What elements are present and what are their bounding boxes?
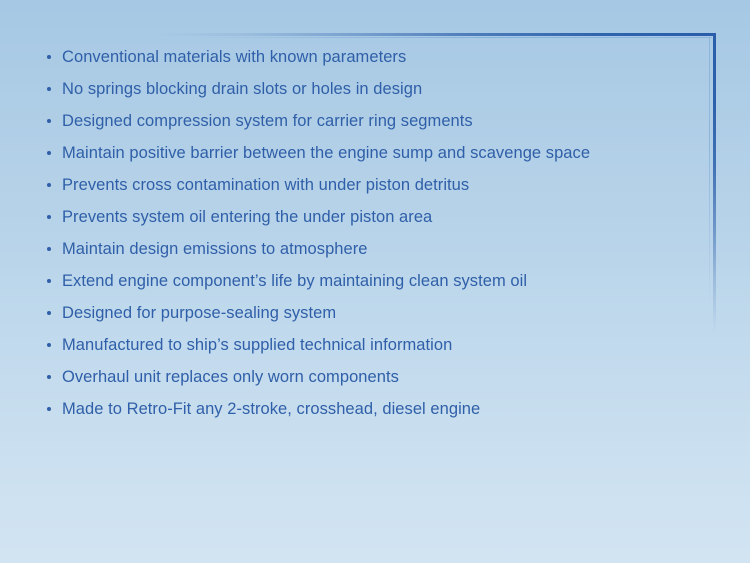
list-item-label: Prevents cross contamination with under … xyxy=(62,176,469,194)
bullet-dot-icon xyxy=(47,55,51,59)
list-item: Conventional materials with known parame… xyxy=(0,41,700,73)
list-item: Prevents cross contamination with under … xyxy=(0,169,700,201)
list-item: Designed for purpose-sealing system xyxy=(0,297,700,329)
frame-right-rule xyxy=(713,33,716,333)
bullet-dot-icon xyxy=(47,119,51,123)
bullet-dot-icon xyxy=(47,343,51,347)
list-item-label: Maintain design emissions to atmosphere xyxy=(62,240,368,258)
list-item-label: Prevents system oil entering the under p… xyxy=(62,208,432,226)
list-item: Designed compression system for carrier … xyxy=(0,105,700,137)
list-item-label: Overhaul unit replaces only worn compone… xyxy=(62,368,399,386)
list-item-label: Designed for purpose-sealing system xyxy=(62,304,336,322)
bullet-dot-icon xyxy=(47,311,51,315)
list-item: Overhaul unit replaces only worn compone… xyxy=(0,361,700,393)
frame-right-rule-highlight xyxy=(709,37,710,307)
bullet-dot-icon xyxy=(47,279,51,283)
slide-canvas: Conventional materials with known parame… xyxy=(0,0,750,563)
bullet-dot-icon xyxy=(47,375,51,379)
list-item-label: Made to Retro-Fit any 2-stroke, crosshea… xyxy=(62,400,480,418)
list-item: Prevents system oil entering the under p… xyxy=(0,201,700,233)
list-item: No springs blocking drain slots or holes… xyxy=(0,73,700,105)
bullet-dot-icon xyxy=(47,151,51,155)
list-item: Made to Retro-Fit any 2-stroke, crosshea… xyxy=(0,393,700,425)
list-item-label: Conventional materials with known parame… xyxy=(62,48,406,66)
frame-top-rule xyxy=(0,33,716,36)
list-item: Extend engine component’s life by mainta… xyxy=(0,265,700,297)
list-item-label: Manufactured to ship’s supplied technica… xyxy=(62,336,452,354)
list-item: Maintain design emissions to atmosphere xyxy=(0,233,700,265)
list-item-label: Designed compression system for carrier … xyxy=(62,112,473,130)
bullet-dot-icon xyxy=(47,183,51,187)
bullet-dot-icon xyxy=(47,407,51,411)
list-item-label: No springs blocking drain slots or holes… xyxy=(62,80,422,98)
bullet-list: Conventional materials with known parame… xyxy=(0,41,700,425)
bullet-dot-icon xyxy=(47,247,51,251)
list-item: Manufactured to ship’s supplied technica… xyxy=(0,329,700,361)
bullet-dot-icon xyxy=(47,215,51,219)
frame-top-rule-highlight xyxy=(0,37,712,38)
list-item-label: Maintain positive barrier between the en… xyxy=(62,144,590,162)
bullet-dot-icon xyxy=(47,87,51,91)
list-item: Maintain positive barrier between the en… xyxy=(0,137,700,169)
list-item-label: Extend engine component’s life by mainta… xyxy=(62,272,527,290)
